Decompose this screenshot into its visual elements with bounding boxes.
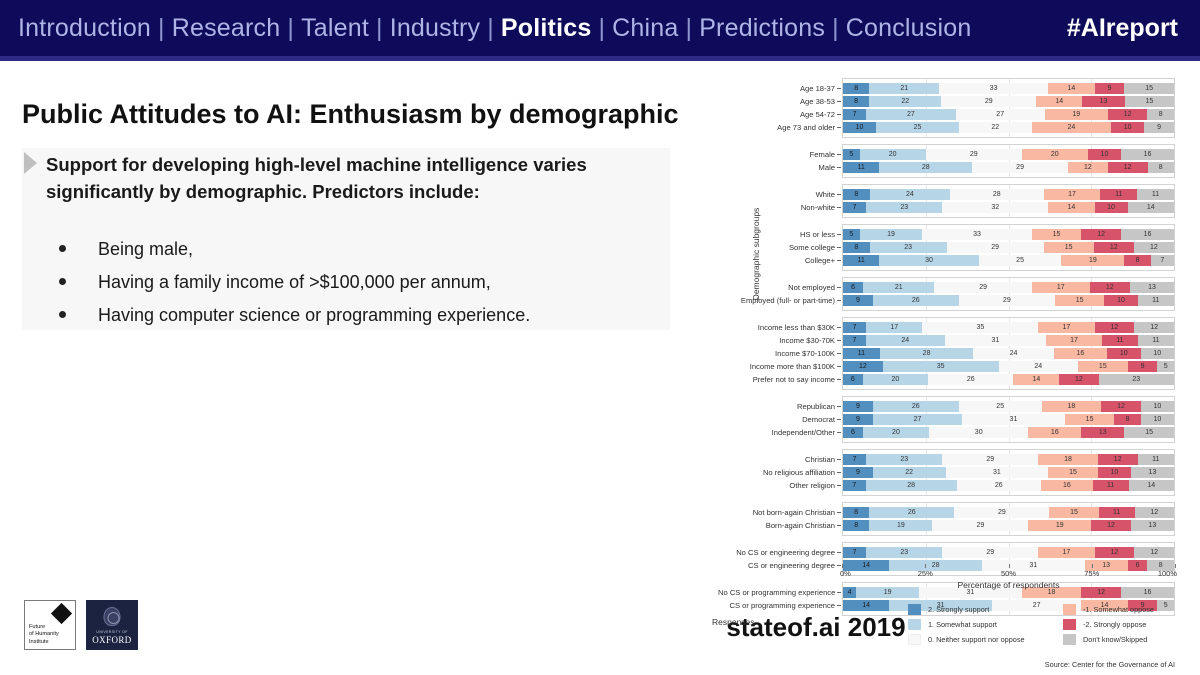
chart-row-label: Other religion (718, 480, 843, 491)
chart-segment-s1: 20 (863, 374, 929, 385)
chart-row: Not born-again Christian82629151112 (843, 507, 1174, 518)
chart-segment-s1: 28 (879, 162, 972, 173)
chart-segment-s2: 11 (843, 162, 879, 173)
chart-segment-dk: 11 (1137, 189, 1174, 200)
chart-segment-s0: 29 (941, 96, 1036, 107)
nav-separator: | (376, 14, 383, 43)
chart-segment-s1: 27 (866, 109, 955, 120)
chart-stacked-bar: 81929191213 (843, 520, 1174, 531)
chart-segment-s2: 9 (843, 295, 873, 306)
chart-row-label: Income $30-70K (718, 335, 843, 346)
chart-stacked-bar: 9273115810 (843, 414, 1174, 425)
chart-group-politics: Republican92625181210Democrat9273115810I… (842, 396, 1175, 443)
chart-group-religion: Christian72329181211No religious affilia… (842, 449, 1175, 496)
nav-item-research[interactable]: Research (172, 14, 281, 43)
legend-label: Don't know/Skipped (1083, 635, 1147, 644)
chart-row-label: Republican (718, 401, 843, 412)
chart-segment-s2: 7 (843, 547, 866, 558)
chart-segment-s2: 7 (843, 335, 866, 346)
chart-segment-dk: 10 (1141, 401, 1174, 412)
nav-item-talent[interactable]: Talent (301, 14, 369, 43)
bullet-item: Having computer science or programming e… (52, 299, 672, 332)
chart-segment-s2: 11 (843, 255, 879, 266)
chart-stacked-bar: 92629151011 (843, 295, 1174, 306)
chart-segment-dk: 12 (1135, 507, 1174, 518)
chart-stacked-bar: 1235241595 (843, 361, 1174, 372)
chart-segment-dk: 11 (1138, 454, 1174, 465)
chart-row-label: No religious affiliation (718, 467, 843, 478)
nav-item-politics[interactable]: Politics (501, 14, 592, 43)
chart-row-label: Non-white (718, 202, 843, 213)
chart-group-born-again: Not born-again Christian82629151112Born-… (842, 502, 1175, 536)
chart-stacked-bar: 82629151112 (843, 507, 1174, 518)
chart-stacked-bar: 112824161010 (843, 348, 1174, 359)
legend-item[interactable]: 0. Neither support nor oppose (908, 632, 1025, 647)
chart-segment-s1: 26 (869, 507, 954, 518)
chart-segment-sm1: 24 (1032, 122, 1111, 133)
legend-item[interactable]: Don't know/Skipped (1063, 632, 1154, 647)
chart-row: No religious affiliation92231151013 (843, 467, 1174, 478)
chart-row-label: Some college (718, 242, 843, 253)
chart-segment-s0: 22 (959, 122, 1032, 133)
chart-row-label: CS or engineering degree (718, 560, 843, 571)
chart-segment-sm2: 13 (1081, 427, 1124, 438)
chart-segment-sm2: 10 (1111, 122, 1144, 133)
chart-segment-dk: 16 (1121, 149, 1174, 160)
chart-row: Independent/Other62030161315 (843, 427, 1174, 438)
chart-segment-sm1: 12 (1068, 162, 1108, 173)
chart-stacked-bar: 72329171212 (843, 547, 1174, 558)
chart-segment-sm2: 12 (1095, 322, 1135, 333)
chart-segment-s2: 5 (843, 149, 860, 160)
chart-segment-s0: 28 (950, 189, 1044, 200)
chart-stacked-bar: 1130251987 (843, 255, 1174, 266)
chart-segment-s1: 19 (869, 520, 932, 531)
chart-segment-sm2: 10 (1088, 149, 1121, 160)
chart-segment-dk: 10 (1141, 348, 1174, 359)
chart-segment-s2: 9 (843, 414, 873, 425)
chart-source-note: Source: Center for the Governance of AI (892, 660, 1175, 669)
chart-row-label: Not employed (718, 282, 843, 293)
chart-segment-dk: 13 (1130, 282, 1174, 293)
chart-group-education: HS or less51933151216Some college8232915… (842, 224, 1175, 271)
chart-segment-s0: 29 (954, 507, 1049, 518)
chart-segment-s2: 5 (843, 229, 860, 240)
chart-segment-s2: 6 (843, 282, 863, 293)
legend-label: 0. Neither support nor oppose (928, 635, 1025, 644)
chart-segment-s1: 26 (873, 295, 959, 306)
chart-segment-s2: 14 (843, 600, 889, 611)
chart-row: Age 18-378213314915 (843, 83, 1174, 94)
chart-segment-s0: 29 (934, 282, 1032, 293)
chart-stacked-bar: 82229141315 (843, 96, 1174, 107)
diamond-icon (51, 603, 72, 624)
nav-item-china[interactable]: China (612, 14, 678, 43)
legend-label: 1. Somewhat support (928, 620, 997, 629)
chart-segment-sm2: 12 (1081, 229, 1121, 240)
chart-segment-s0: 25 (959, 401, 1042, 412)
chart-segment-s0: 29 (972, 162, 1068, 173)
chart-segment-sm1: 15 (1032, 229, 1082, 240)
chart-row-label: Income more than $100K (718, 361, 843, 372)
chart-segment-s1: 28 (880, 348, 974, 359)
chart-stacked-bar: 8213314915 (843, 83, 1174, 94)
chart-stacked-bar: 62129171213 (843, 282, 1174, 293)
chart-segment-s0: 31 (945, 335, 1047, 346)
chart-row-label: Male (718, 162, 843, 173)
chart-segment-dk: 14 (1129, 480, 1174, 491)
chart-segment-sm2: 12 (1090, 282, 1131, 293)
legend-swatch-sm2 (1063, 619, 1076, 630)
chart-segment-s2: 8 (843, 189, 870, 200)
chart-plot-area: Age 18-378213314915Age 38-5382229141315A… (842, 78, 1175, 622)
chart-segment-sm1: 14 (1036, 96, 1082, 107)
nav-underline (0, 56, 1200, 61)
bullet-text: Having a family income of >$100,000 per … (98, 272, 491, 292)
chart-stacked-bar: 52029201016 (843, 149, 1174, 160)
chart-segment-dk: 16 (1121, 229, 1174, 240)
chart-segment-s0: 29 (959, 295, 1055, 306)
chart-segment-s2: 8 (843, 242, 870, 253)
chart-segment-sm2: 11 (1102, 335, 1138, 346)
fhi-logo-text: Future of Humanity Institute (29, 624, 59, 646)
page-title: Public Attitudes to AI: Enthusiasm by de… (22, 98, 702, 130)
chart-row: Christian72329181211 (843, 454, 1174, 465)
chart-row: Democrat9273115810 (843, 414, 1174, 425)
chart-segment-s1: 30 (879, 255, 978, 266)
chart-segment-s1: 17 (866, 322, 922, 333)
chart-row: Income $30-70K72431171111 (843, 335, 1174, 346)
legend-label: -1. Somewhat oppose (1083, 605, 1154, 614)
chart-segment-sm1: 19 (1045, 109, 1108, 120)
chart-x-tick-label: 75% (1084, 569, 1099, 578)
nav-item-industry[interactable]: Industry (390, 14, 481, 43)
chart-segment-s1: 26 (873, 401, 959, 412)
chart-x-tick-label: 25% (918, 569, 933, 578)
chart-segment-dk: 5 (1157, 361, 1174, 372)
chart-row-label: Employed (full- or part-time) (718, 295, 843, 306)
chart-row-label: Age 18-37 (718, 83, 843, 94)
chart-segment-s0: 29 (942, 454, 1038, 465)
chart-stacked-bar: 10252224109 (843, 122, 1174, 133)
chart-segment-sm2: 9 (1128, 361, 1158, 372)
chart-segment-s2: 6 (843, 374, 863, 385)
chart-segment-sm1: 19 (1061, 255, 1124, 266)
chart-segment-s0: 31 (962, 414, 1065, 425)
chart-row-label: Democrat (718, 414, 843, 425)
chart-group-employment: Not employed62129171213Employed (full- o… (842, 277, 1175, 311)
chart-segment-s0: 29 (932, 520, 1028, 531)
legend-swatch-s2 (908, 604, 921, 615)
chart-x-axis: 0%25%50%75%100% (842, 564, 1175, 574)
chart-segment-s0: 29 (926, 149, 1022, 160)
chart-row: Non-white72332141014 (843, 202, 1174, 213)
chart-segment-s1: 23 (866, 202, 942, 213)
chart-segment-s2: 8 (843, 96, 869, 107)
chart-segment-sm2: 10 (1104, 295, 1137, 306)
chart-segment-dk: 11 (1138, 295, 1174, 306)
chart-row-label: Income less than $30K (718, 322, 843, 333)
chart-segment-sm1: 15 (1044, 242, 1094, 253)
chart-row-label: Age 38-53 (718, 96, 843, 107)
chart-segment-dk: 15 (1125, 96, 1174, 107)
chart-stacked-bar: 62026141223 (843, 374, 1174, 385)
chart-segment-sm1: 19 (1028, 520, 1091, 531)
nav-item-conclusion[interactable]: Conclusion (846, 14, 972, 43)
chart-stacked-bar: 62030161315 (843, 427, 1174, 438)
oxford-logo: UNIVERSITY OF OXFORD (86, 600, 138, 650)
chart-segment-s1: 24 (870, 189, 950, 200)
chart-stacked-bar: 72329181211 (843, 454, 1174, 465)
chart-segment-sm1: 15 (1078, 361, 1128, 372)
crest-icon (104, 607, 121, 626)
chart-segment-s1: 23 (866, 547, 942, 558)
chart-segment-dk: 12 (1134, 322, 1174, 333)
legend-title: Responses (712, 617, 755, 627)
chart-segment-s1: 20 (860, 149, 926, 160)
chart-segment-s0: 30 (929, 427, 1028, 438)
chart-segment-s1: 21 (863, 282, 934, 293)
chart-row-label: College+ (718, 255, 843, 266)
chart-row: Republican92625181210 (843, 401, 1174, 412)
top-navigation-bar: Introduction|Research|Talent|Industry|Po… (0, 0, 1200, 56)
chart-segment-sm2: 11 (1093, 480, 1129, 491)
chart-row-label: White (718, 189, 843, 200)
chart-row-label: Not born-again Christian (718, 507, 843, 518)
chart-stacked-bar: 7272719128 (843, 109, 1174, 120)
chart-segment-s2: 9 (843, 401, 873, 412)
chart-row: Not employed62129171213 (843, 282, 1174, 293)
chart-stacked-bar: 71735171212 (843, 322, 1174, 333)
chart-segment-sm2: 12 (1098, 454, 1138, 465)
chart-row: Male11282912128 (843, 162, 1174, 173)
chart-segment-sm1: 20 (1022, 149, 1088, 160)
chart-stacked-bar: 11282912128 (843, 162, 1174, 173)
chart-x-tick (925, 564, 926, 568)
chart-segment-sm2: 12 (1094, 242, 1134, 253)
chart-row: Age 54-727272719128 (843, 109, 1174, 120)
legend-label: 2. Strongly support (928, 605, 989, 614)
chart-segment-sm1: 14 (1048, 202, 1094, 213)
chart-segment-sm1: 17 (1038, 322, 1094, 333)
chart-segment-s1: 20 (863, 427, 929, 438)
chart-stacked-bar: 82329151212 (843, 242, 1174, 253)
chart-row: College+1130251987 (843, 255, 1174, 266)
chart-segment-sm1: 18 (1038, 454, 1098, 465)
chart-row-label: CS or programming experience (718, 600, 843, 611)
nav-item-introduction[interactable]: Introduction (18, 14, 151, 43)
chart-segment-s1: 24 (866, 335, 945, 346)
chart-segment-s2: 8 (843, 83, 869, 94)
chart-segment-sm2: 12 (1108, 162, 1148, 173)
bullet-item: Having a family income of >$100,000 per … (52, 266, 672, 299)
chart-row: Other religion72826161114 (843, 480, 1174, 491)
chart-stacked-bar: 92231151013 (843, 467, 1174, 478)
chart-segment-sm1: 15 (1049, 507, 1098, 518)
legend-item[interactable]: 1. Somewhat support (908, 617, 1025, 632)
chart-segment-s0: 26 (928, 374, 1013, 385)
legend-label: -2. Strongly oppose (1083, 620, 1146, 629)
chart-segment-s1: 23 (870, 242, 947, 253)
chart-segment-s2: 8 (843, 507, 869, 518)
chart-segment-sm1: 15 (1048, 467, 1098, 478)
chart-row: No CS or engineering degree72329171212 (843, 547, 1174, 558)
legend-swatch-sm1 (1063, 604, 1076, 615)
chart-segment-sm2: 12 (1095, 547, 1135, 558)
chart-segment-sm1: 17 (1046, 335, 1102, 346)
chart-segment-s0: 33 (922, 229, 1031, 240)
chart-segment-s0: 25 (979, 255, 1062, 266)
chart-segment-s2: 8 (843, 520, 869, 531)
chart-segment-s0: 24 (999, 361, 1078, 372)
chart-row-label: Born-again Christian (718, 520, 843, 531)
oxford-logo-name: OXFORD (87, 635, 137, 645)
chart-row: Age 38-5382229141315 (843, 96, 1174, 107)
chart-stacked-bar: 82428171111 (843, 189, 1174, 200)
chart-segment-dk: 7 (1151, 255, 1174, 266)
section-nav[interactable]: Introduction|Research|Talent|Industry|Po… (18, 14, 971, 43)
legend-item[interactable]: -1. Somewhat oppose (1063, 602, 1154, 617)
chart-row: Income more than $100K1235241595 (843, 361, 1174, 372)
nav-separator: | (685, 14, 692, 43)
legend-column: -1. Somewhat oppose-2. Strongly opposeDo… (1063, 602, 1154, 647)
chart-segment-s1: 19 (860, 229, 923, 240)
chart-segment-sm1: 17 (1044, 189, 1101, 200)
chart-segment-sm2: 13 (1082, 96, 1125, 107)
bullet-dot-icon (59, 245, 66, 252)
chart-row-label: No CS or programming experience (718, 587, 843, 598)
chart-segment-s2: 10 (843, 122, 876, 133)
chart-group-age: Age 18-378213314915Age 38-5382229141315A… (842, 78, 1175, 138)
chart-segment-dk: 8 (1147, 109, 1173, 120)
chart-segment-s1: 25 (876, 122, 959, 133)
chart-segment-s2: 7 (843, 480, 866, 491)
chart-segment-sm2: 12 (1108, 109, 1148, 120)
chart-segment-s0: 27 (956, 109, 1045, 120)
chart-segment-sm2: 10 (1107, 348, 1140, 359)
chart-row-label: Prefer not to say income (718, 374, 843, 385)
chart-segment-dk: 11 (1138, 335, 1174, 346)
chart-row: Income $70-100K112824161010 (843, 348, 1174, 359)
chart-row: Age 73 and older10252224109 (843, 122, 1174, 133)
chart-segment-sm2: 12 (1101, 401, 1141, 412)
chart-row: Income less than $30K71735171212 (843, 322, 1174, 333)
nav-item-predictions[interactable]: Predictions (699, 14, 825, 43)
legend-item[interactable]: 2. Strongly support (908, 602, 1025, 617)
chart-stacked-bar: 72431171111 (843, 335, 1174, 346)
chart-segment-dk: 15 (1124, 427, 1174, 438)
chart-segment-sm1: 14 (1013, 374, 1059, 385)
bullet-dot-icon (59, 311, 66, 318)
legend-swatch-s1 (908, 619, 921, 630)
chart-segment-s2: 7 (843, 109, 866, 120)
chart-segment-s0: 29 (947, 242, 1044, 253)
bullet-text: Having computer science or programming e… (98, 305, 530, 325)
oxford-logo-university: UNIVERSITY OF (87, 630, 137, 634)
chart-x-tick (1175, 564, 1176, 568)
chart-row-label: HS or less (718, 229, 843, 240)
chart-x-tick (1092, 564, 1093, 568)
legend-swatch-s0 (908, 634, 921, 645)
legend-item[interactable]: -2. Strongly oppose (1063, 617, 1154, 632)
chart-segment-s2: 11 (843, 348, 880, 359)
chart-segment-s0: 26 (957, 480, 1041, 491)
report-hashtag: #AIreport (1067, 14, 1182, 43)
chart-segment-s2: 12 (843, 361, 883, 372)
chart-stacked-bar: 92625181210 (843, 401, 1174, 412)
chart-row-label: Female (718, 149, 843, 160)
chart-row: White82428171111 (843, 189, 1174, 200)
chart-segment-s2: 9 (843, 467, 873, 478)
chart-row-label: Income $70-100K (718, 348, 843, 359)
chart-segment-s1: 21 (869, 83, 939, 94)
chart-segment-s2: 7 (843, 202, 866, 213)
nav-separator: | (487, 14, 494, 43)
chart-segment-s0: 29 (942, 547, 1038, 558)
chart-segment-sm2: 12 (1059, 374, 1098, 385)
chart-row: Born-again Christian81929191213 (843, 520, 1174, 531)
chart-row-label: No CS or engineering degree (718, 547, 843, 558)
chart-x-axis-title: Percentage of respondents (842, 580, 1175, 590)
chart-stacked-bar: 72826161114 (843, 480, 1174, 491)
chart-x-tick-label: 100% (1158, 569, 1177, 578)
chart-segment-dk: 15 (1124, 83, 1174, 94)
chart-segment-s0: 24 (973, 348, 1053, 359)
chart-segment-sm2: 11 (1099, 507, 1135, 518)
chart-segment-sm1: 15 (1055, 295, 1105, 306)
chart-segment-sm1: 17 (1038, 547, 1094, 558)
chart-segment-sm2: 11 (1100, 189, 1137, 200)
chart-segment-sm1: 16 (1054, 348, 1107, 359)
chart-segment-dk: 9 (1144, 122, 1174, 133)
chart-segment-s1: 27 (873, 414, 962, 425)
bullet-dot-icon (59, 278, 66, 285)
chart-segment-s0: 33 (939, 83, 1048, 94)
legend-column: 2. Strongly support1. Somewhat support0.… (908, 602, 1025, 647)
legend-swatch-dk (1063, 634, 1076, 645)
chart-stacked-bar: 51933151216 (843, 229, 1174, 240)
chart-row: Prefer not to say income62026141223 (843, 374, 1174, 385)
chart-segment-dk: 12 (1134, 242, 1174, 253)
chart-segment-sm2: 10 (1098, 467, 1131, 478)
chart-segment-dk: 14 (1128, 202, 1174, 213)
chart-segment-sm1: 17 (1032, 282, 1089, 293)
chart-segment-sm1: 18 (1042, 401, 1102, 412)
chart-row: Female52029201016 (843, 149, 1174, 160)
chart-group-race: White82428171111Non-white72332141014 (842, 184, 1175, 218)
chart-row: Employed (full- or part-time)92629151011 (843, 295, 1174, 306)
chart-group-gender: Female52029201016Male11282912128 (842, 144, 1175, 178)
chart-segment-s1: 35 (883, 361, 999, 372)
chart-row-label: Age 54-72 (718, 109, 843, 120)
chart-segment-sm2: 10 (1095, 202, 1128, 213)
lead-paragraph: Support for developing high-level machin… (46, 152, 676, 206)
bullet-text: Being male, (98, 239, 193, 259)
nav-separator: | (598, 14, 605, 43)
chart-segment-dk: 10 (1141, 414, 1174, 425)
nav-separator: | (832, 14, 839, 43)
nav-separator: | (158, 14, 165, 43)
chart-segment-dk: 12 (1134, 547, 1174, 558)
fhi-logo: Future of Humanity Institute (24, 600, 76, 650)
chart-segment-s0: 32 (942, 202, 1048, 213)
chart-segment-sm2: 8 (1114, 414, 1140, 425)
chart-stacked-bar: 72332141014 (843, 202, 1174, 213)
bullet-item: Being male, (52, 233, 672, 266)
chart-segment-dk: 5 (1157, 600, 1174, 611)
chart-segment-sm2: 8 (1124, 255, 1150, 266)
chart-x-tick (1009, 564, 1010, 568)
